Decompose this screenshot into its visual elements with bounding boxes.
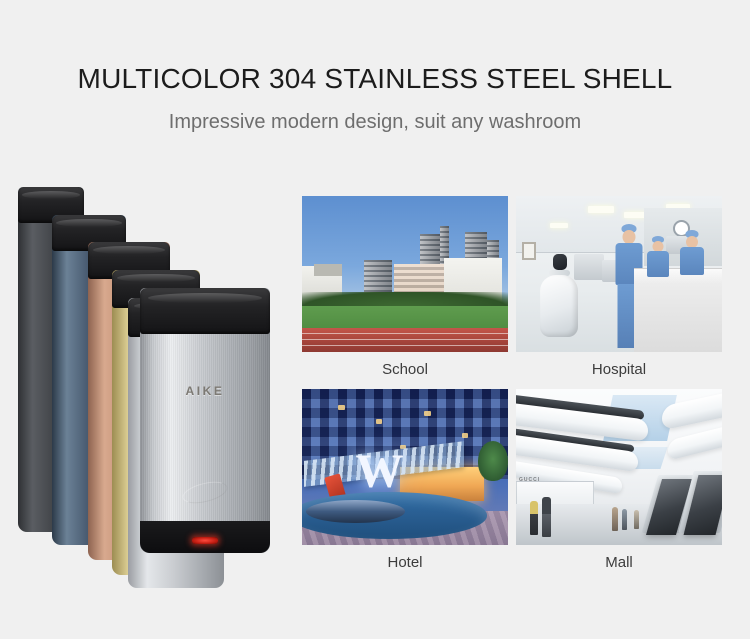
caption-school: School — [302, 352, 508, 379]
facade-window-glow-4 — [462, 433, 468, 438]
ceiling-light-1 — [588, 206, 614, 213]
page-subtitle: Impressive modern design, suit any washr… — [0, 109, 750, 135]
school-left-roof — [314, 264, 342, 276]
hotel-sculpture — [306, 500, 405, 523]
school-photo — [302, 196, 508, 352]
gallery-row-top: School — [302, 196, 722, 379]
track-lane-line-3 — [302, 345, 508, 346]
dryer-unit-brushed-silver[interactable]: AIKE — [140, 288, 270, 553]
mall-shopper-2 — [542, 497, 551, 537]
product-brand-logo: AIKE — [140, 384, 270, 398]
mall-store-sign-gucci: GUCCI — [519, 477, 540, 483]
gallery-cell-hospital[interactable]: Hospital — [516, 196, 722, 379]
mall-shopper-5 — [634, 510, 639, 529]
gallery-cell-school[interactable]: School — [302, 196, 508, 379]
staff-1-scrub-top — [647, 251, 669, 277]
dryer-cap-brushed-silver — [140, 288, 270, 334]
gallery-cell-hotel[interactable]: W Hotel — [302, 389, 508, 572]
ceiling-light-3 — [550, 223, 568, 228]
reception-counter — [634, 268, 722, 352]
header-block: MULTICOLOR 304 STAINLESS STEEL SHELL Imp… — [0, 0, 750, 135]
staff-behind-counter-2 — [679, 230, 705, 274]
facade-window-glow-2 — [376, 419, 382, 424]
mall-shopper-1 — [530, 501, 538, 535]
hospital-photo — [516, 196, 722, 352]
mall-shopper-4 — [622, 509, 627, 530]
page-title: MULTICOLOR 304 STAINLESS STEEL SHELL — [0, 62, 750, 96]
nurse-head — [623, 230, 636, 244]
service-robot-body — [540, 275, 578, 337]
mall-shopper-3 — [612, 507, 618, 531]
staff-2-scrub-top — [680, 247, 704, 275]
ceiling-light-2 — [624, 212, 646, 218]
hotel-palm-tree — [478, 441, 508, 481]
gallery-row-bottom: W Hotel GUCCI — [302, 389, 722, 572]
service-robot-head — [553, 254, 567, 270]
medical-equipment-1 — [574, 254, 604, 280]
application-gallery: School — [302, 196, 722, 572]
facade-window-glow-1 — [338, 405, 345, 410]
hotel-w-sign: W — [356, 448, 404, 496]
hotel-photo: W — [302, 389, 508, 545]
product-lineup: AIKE — [0, 170, 300, 590]
school-running-track — [302, 328, 508, 352]
led-indicator — [192, 537, 218, 544]
staff-behind-counter-1 — [646, 236, 670, 276]
facade-window-glow-3 — [424, 411, 431, 416]
track-lane-line-1 — [302, 333, 508, 334]
caption-hospital: Hospital — [516, 352, 722, 379]
gallery-cell-mall[interactable]: GUCCI Mall — [516, 389, 722, 572]
track-lane-line-2 — [302, 339, 508, 340]
caption-hotel: Hotel — [302, 545, 508, 572]
wall-picture-frame — [522, 242, 536, 260]
mall-photo: GUCCI — [516, 389, 722, 545]
caption-mall: Mall — [516, 545, 722, 572]
